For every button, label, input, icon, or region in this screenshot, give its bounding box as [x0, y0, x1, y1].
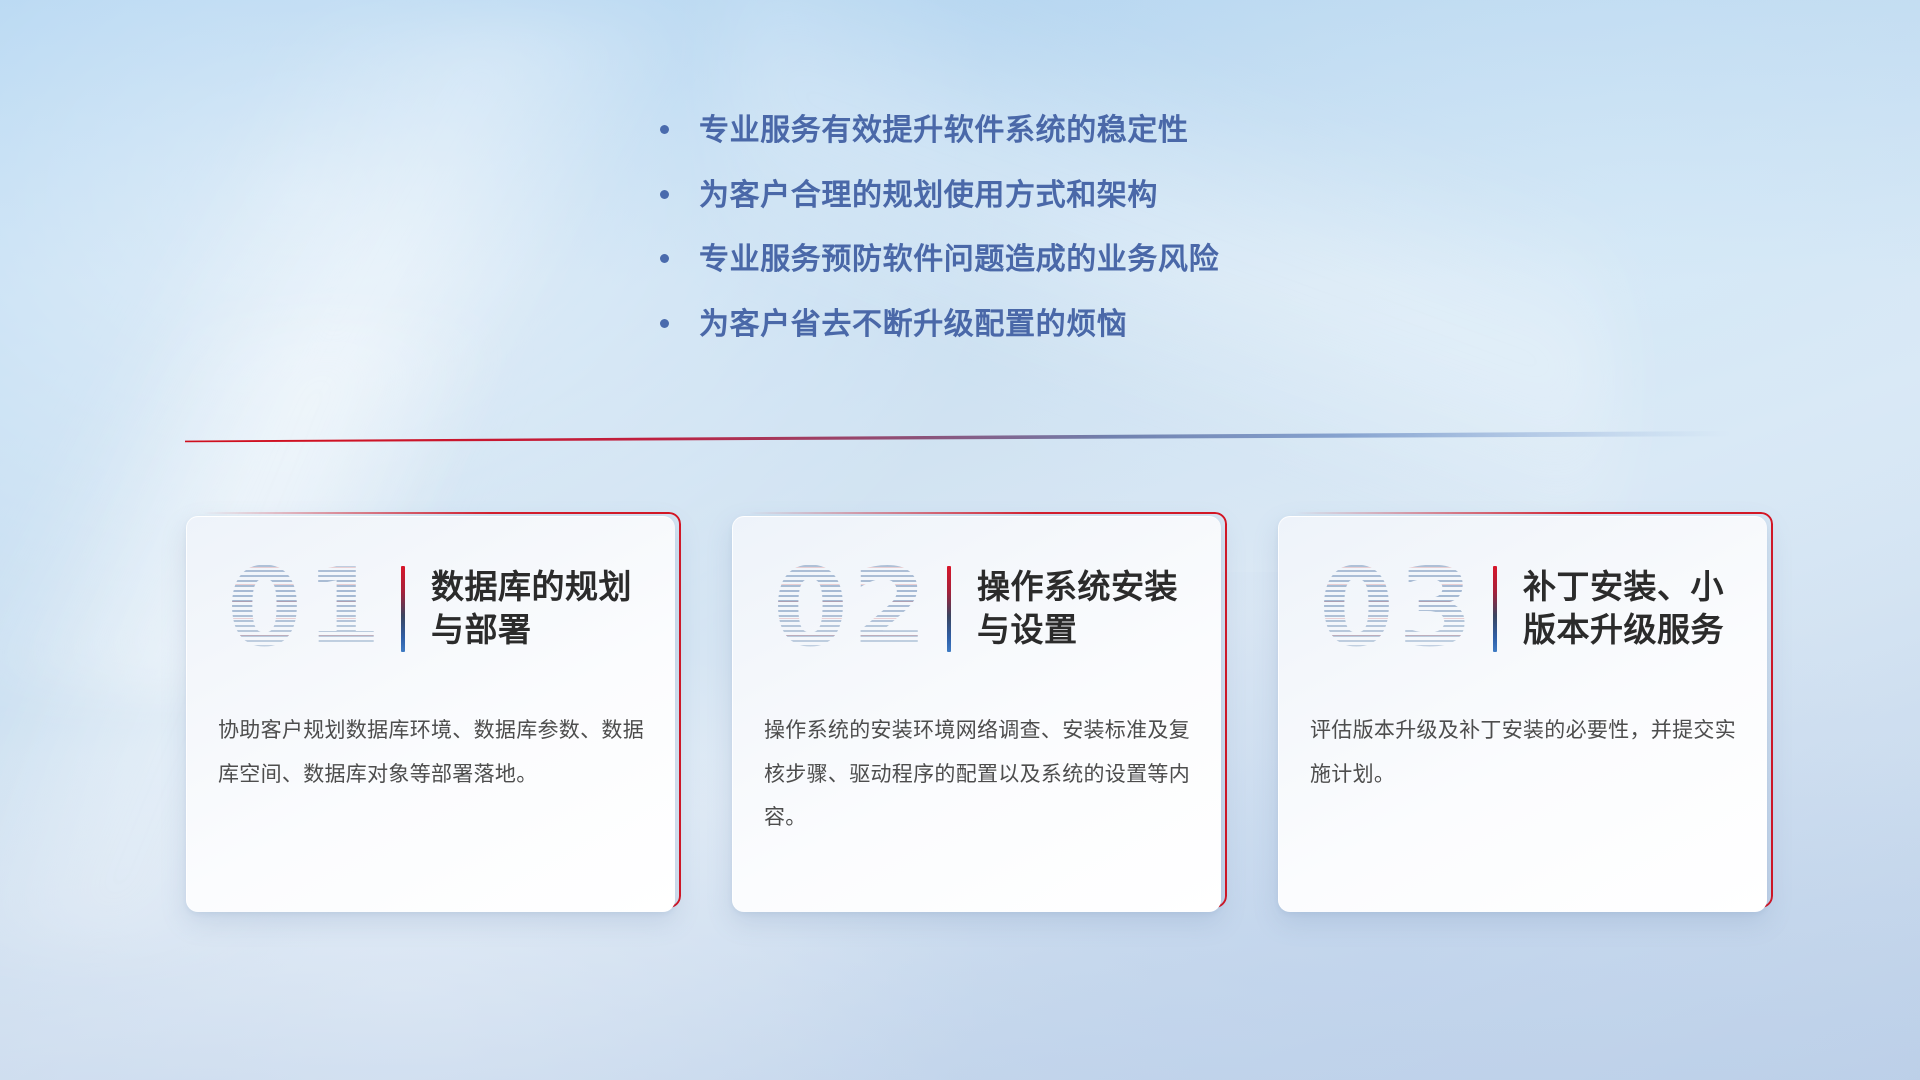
bullet-text: 为客户合理的规划使用方式和架构	[699, 177, 1158, 215]
card-panel: 01 01 数据库的规划与部署 协助客户规划数据库环境、数据库参数、数据库空间、…	[186, 516, 675, 912]
card-body-text: 操作系统的安装环境网络调查、安装标准及复核步骤、驱动程序的配置以及系统的设置等内…	[733, 709, 1221, 840]
card-step-number: 03 03	[1305, 550, 1491, 668]
card-divider-bar	[401, 566, 405, 652]
bullet-dot-icon	[660, 319, 669, 328]
card-header: 02 02 操作系统安装与设置	[733, 517, 1221, 701]
card-body-text: 协助客户规划数据库环境、数据库参数、数据库空间、数据库对象等部署落地。	[187, 709, 675, 796]
bullet-text: 专业服务有效提升软件系统的稳定性	[699, 112, 1189, 150]
divider-shape-icon	[185, 431, 1730, 443]
card-step-number: 02 02	[759, 550, 945, 668]
card-divider-bar	[1493, 566, 1497, 652]
list-item: 为客户省去不断升级配置的烦恼	[660, 306, 1400, 344]
card-body-text: 评估版本升级及补丁安装的必要性，并提交实施计划。	[1279, 709, 1767, 796]
bullet-dot-icon	[660, 125, 669, 134]
service-cards-row: 01 01 数据库的规划与部署 协助客户规划数据库环境、数据库参数、数据库空间、…	[0, 516, 1920, 912]
bullet-text: 专业服务预防软件问题造成的业务风险	[699, 241, 1219, 279]
card-header: 03 03 补丁安装、小版本升级服务	[1279, 517, 1767, 701]
card-step-number-tint: 03	[1305, 550, 1491, 668]
list-item: 专业服务有效提升软件系统的稳定性	[660, 112, 1400, 150]
section-divider	[185, 431, 1730, 443]
card-header: 01 01 数据库的规划与部署	[187, 517, 675, 701]
list-item: 为客户合理的规划使用方式和架构	[660, 177, 1400, 215]
bullet-dot-icon	[660, 254, 669, 263]
list-item: 专业服务预防软件问题造成的业务风险	[660, 241, 1400, 279]
card-step-number: 01 01	[213, 550, 399, 668]
card-divider-bar	[947, 566, 951, 652]
card-panel: 02 02 操作系统安装与设置 操作系统的安装环境网络调查、安装标准及复核步骤、…	[732, 516, 1221, 912]
benefits-bullet-list: 专业服务有效提升软件系统的稳定性 为客户合理的规划使用方式和架构 专业服务预防软…	[660, 112, 1400, 370]
bullet-text: 为客户省去不断升级配置的烦恼	[699, 306, 1127, 344]
card-panel: 03 03 补丁安装、小版本升级服务 评估版本升级及补丁安装的必要性，并提交实施…	[1278, 516, 1767, 912]
service-card-02[interactable]: 02 02 操作系统安装与设置 操作系统的安装环境网络调查、安装标准及复核步骤、…	[732, 516, 1221, 912]
service-card-03[interactable]: 03 03 补丁安装、小版本升级服务 评估版本升级及补丁安装的必要性，并提交实施…	[1278, 516, 1767, 912]
bullet-dot-icon	[660, 190, 669, 199]
card-step-number-tint: 01	[213, 550, 399, 668]
card-title: 操作系统安装与设置	[977, 566, 1221, 652]
service-card-01[interactable]: 01 01 数据库的规划与部署 协助客户规划数据库环境、数据库参数、数据库空间、…	[186, 516, 675, 912]
card-title: 补丁安装、小版本升级服务	[1523, 566, 1767, 652]
card-step-number-tint: 02	[759, 550, 945, 668]
card-title: 数据库的规划与部署	[431, 566, 675, 652]
